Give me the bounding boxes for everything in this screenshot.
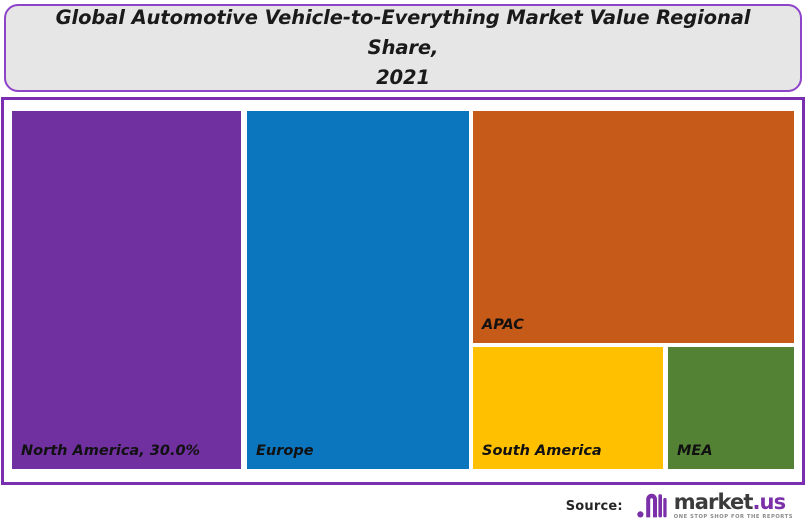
bar-chart-logo-icon — [637, 493, 667, 519]
treemap-tile-label-apac: APAC — [473, 317, 524, 343]
logo-word-market: market — [674, 490, 753, 514]
treemap-tile-label-south-america: South America — [473, 443, 602, 469]
logo-word-tld: .us — [752, 490, 785, 514]
chart-footer: Source: market.us ONE STOP SHOP FOR THE … — [0, 487, 806, 525]
treemap-tile-apac[interactable]: APAC — [473, 111, 794, 343]
chart-title: Global Automotive Vehicle-to-Everything … — [32, 3, 774, 93]
chart-title-line-1: Global Automotive Vehicle-to-Everything … — [56, 6, 751, 59]
logo-wordmark: market.us — [674, 492, 785, 513]
treemap-tile-label-europe: Europe — [247, 443, 314, 469]
chart-panel: North America, 30.0% Europe APAC South A… — [1, 97, 805, 485]
logo-text: market.us ONE STOP SHOP FOR THE REPORTS — [674, 492, 793, 520]
treemap-tile-europe[interactable]: Europe — [247, 111, 469, 469]
treemap-tile-north-america[interactable]: North America, 30.0% — [12, 111, 241, 469]
source-label: Source: — [566, 499, 623, 514]
chart-title-line-2: 2021 — [376, 66, 430, 89]
chart-page: Global Automotive Vehicle-to-Everything … — [0, 0, 806, 525]
treemap-tile-south-america[interactable]: South America — [473, 347, 663, 469]
treemap-tile-label-mea: MEA — [668, 443, 713, 469]
treemap-tile-label-north-america: North America, 30.0% — [12, 443, 200, 469]
logo-tagline: ONE STOP SHOP FOR THE REPORTS — [674, 515, 793, 520]
treemap: North America, 30.0% Europe APAC South A… — [4, 100, 802, 482]
treemap-tile-mea[interactable]: MEA — [668, 347, 794, 469]
chart-title-card: Global Automotive Vehicle-to-Everything … — [4, 4, 802, 92]
market-us-logo[interactable]: market.us ONE STOP SHOP FOR THE REPORTS — [637, 492, 793, 520]
